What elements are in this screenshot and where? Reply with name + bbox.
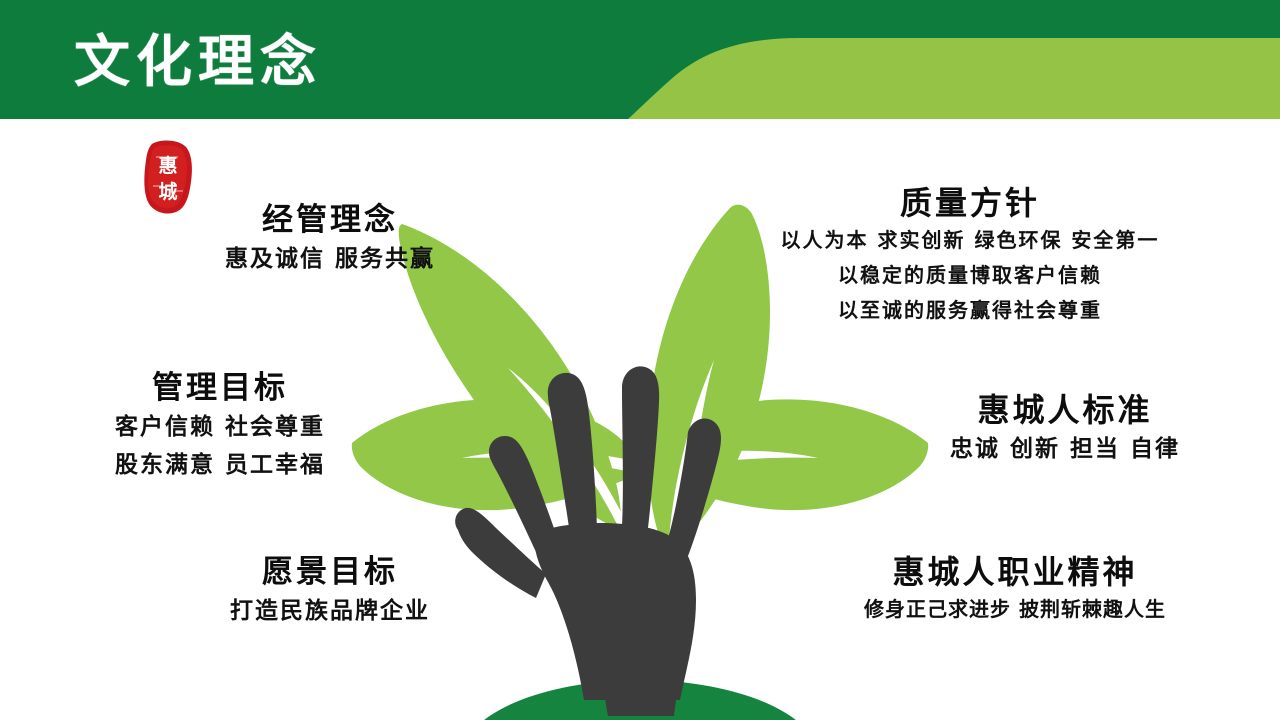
block-line-guanli-2: 股东满意 员工幸福 (60, 446, 380, 484)
block-line-jingying-1: 惠及诚信 服务共赢 (185, 240, 475, 278)
concept-block-people-standard: 惠城人标准 忠诚 创新 担当 自律 (900, 390, 1230, 468)
block-heading-zhiliang: 质量方针 (760, 183, 1180, 223)
block-line-guanli-1: 客户信赖 社会尊重 (60, 408, 380, 446)
concept-block-quality-policy: 质量方针 以人为本 求实创新 绿色环保 安全第一 以稳定的质量博取客户信赖 以至… (760, 183, 1180, 328)
seal-char-top: 惠 (158, 155, 177, 177)
block-line-jingshen-1: 修身正己求进步 披荆斩棘趣人生 (795, 592, 1235, 627)
header-green-swoosh (628, 38, 1280, 119)
block-line-yuanjing-1: 打造民族品牌企业 (180, 592, 480, 630)
slide-canvas: 文化理念 惠 城 (0, 0, 1280, 720)
block-heading-biaozhun: 惠城人标准 (900, 390, 1230, 430)
concept-block-management-goal: 管理目标 客户信赖 社会尊重 股东满意 员工幸福 (60, 368, 380, 484)
block-heading-yuanjing: 愿景目标 (180, 552, 480, 592)
block-line-biaozhun-1: 忠诚 创新 担当 自律 (900, 430, 1230, 468)
block-line-zhiliang-1: 以人为本 求实创新 绿色环保 安全第一 (760, 223, 1180, 258)
slide-header: 文化理念 (0, 0, 1280, 119)
block-line-zhiliang-2: 以稳定的质量博取客户信赖 (760, 258, 1180, 293)
concept-block-vision-goal: 愿景目标 打造民族品牌企业 (180, 552, 480, 630)
block-line-zhiliang-3: 以至诚的服务赢得社会尊重 (760, 293, 1180, 328)
concept-block-professional-spirit: 惠城人职业精神 修身正己求进步 披荆斩棘趣人生 (795, 552, 1235, 627)
concept-block-business-philosophy: 经管理念 惠及诚信 服务共赢 (185, 200, 475, 278)
block-heading-jingying: 经管理念 (185, 200, 475, 240)
block-heading-jingshen: 惠城人职业精神 (795, 552, 1235, 592)
block-heading-guanli: 管理目标 (60, 368, 380, 408)
page-title: 文化理念 (74, 30, 322, 96)
